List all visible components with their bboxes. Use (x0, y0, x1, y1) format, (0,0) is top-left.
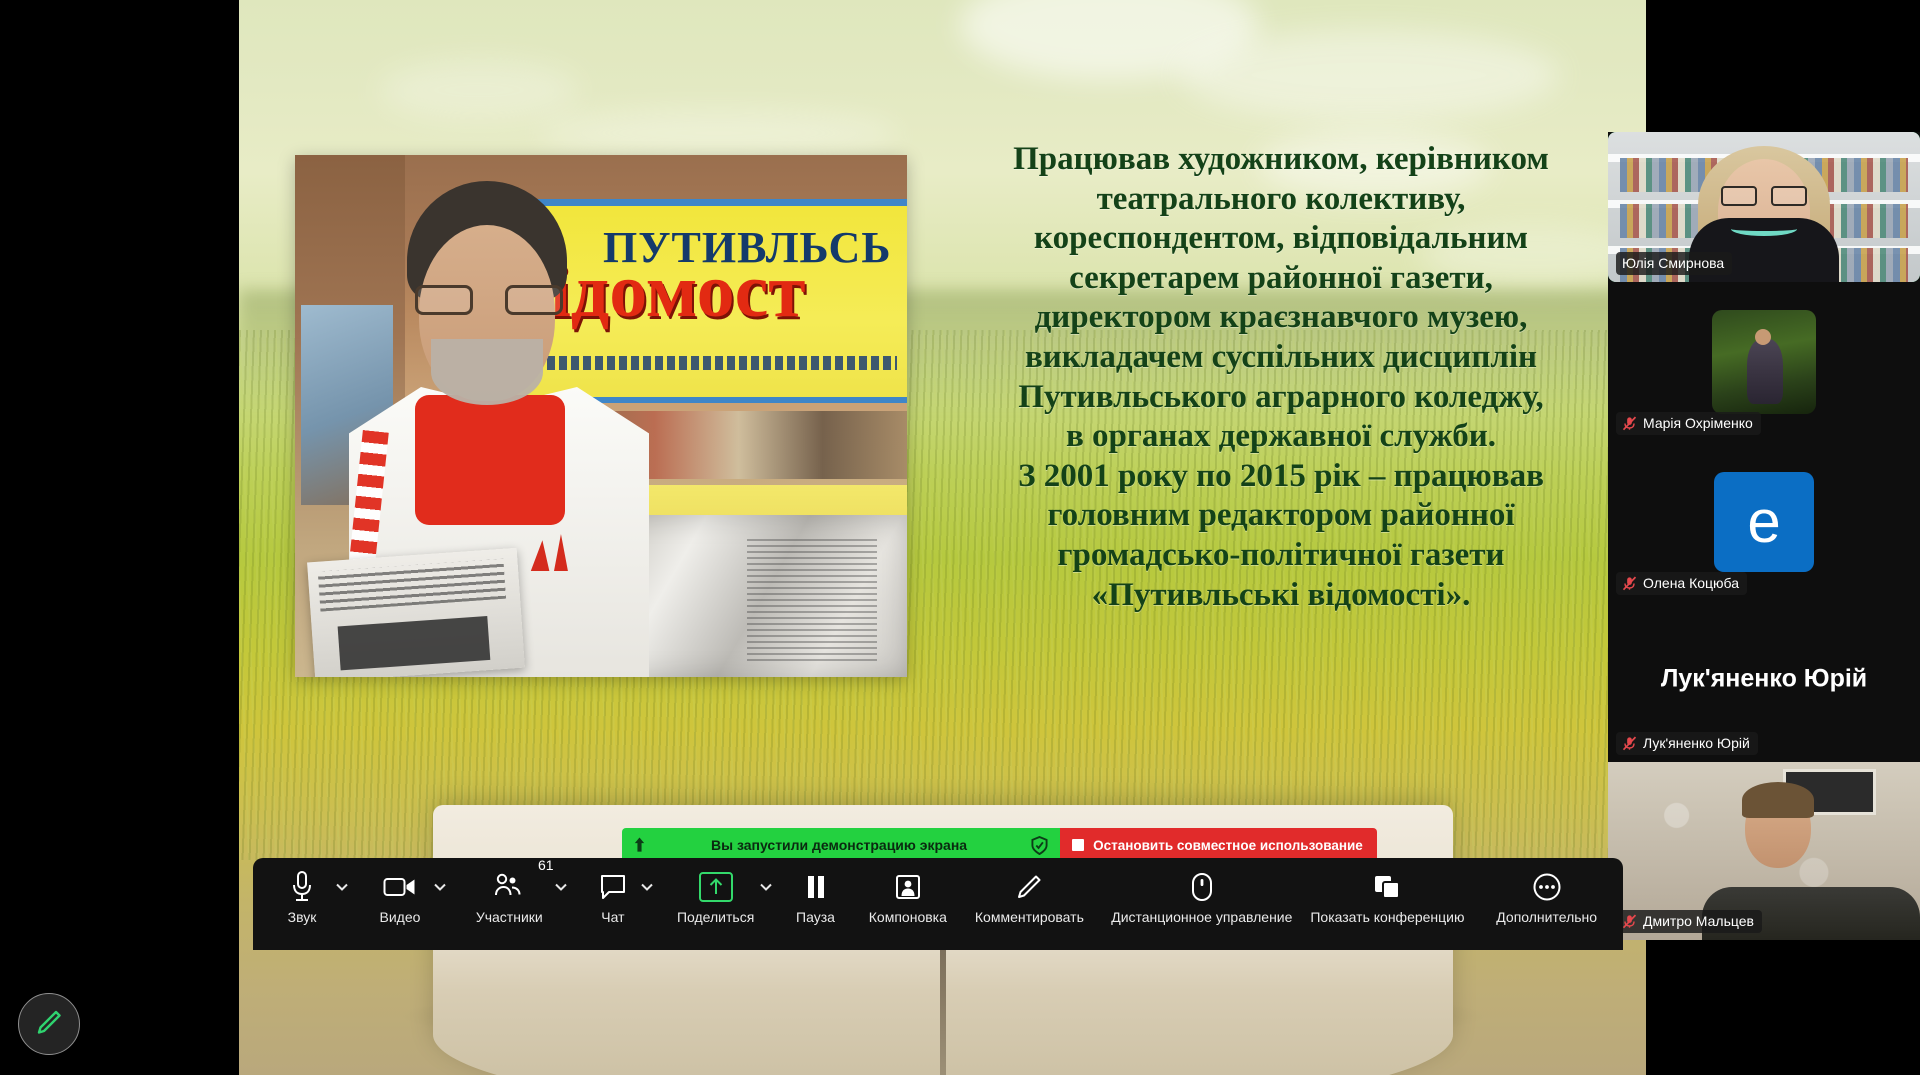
participants-filmstrip: Юлія Смирнова Марія Охріменко (1608, 132, 1920, 940)
participants-count-badge: 61 (538, 857, 554, 873)
chevron-down-icon[interactable] (640, 880, 654, 894)
zoom-toolbar: Звук Видео 61 (253, 858, 1623, 950)
slide-line: викладачем суспільних дисциплін (929, 338, 1633, 378)
shield-icon[interactable] (1031, 836, 1048, 855)
camera-icon (383, 869, 417, 905)
person-shirt (415, 395, 565, 525)
participant-name-badge: Юлія Смирнова (1616, 252, 1732, 275)
share-arrow-icon (632, 836, 647, 854)
slide-line: секретарем районної газети, (929, 259, 1633, 299)
cloud-decoration (539, 110, 899, 156)
slide-photograph: ПУТИВЛЬСЬ Відомост (295, 155, 907, 677)
toolbar-button-show-meeting[interactable]: Показать конференцию (1305, 858, 1471, 950)
participant-name: Дмитро Мальцев (1643, 913, 1754, 929)
toolbar-label-layout: Компоновка (869, 909, 947, 925)
slide-line: «Путивльські відомості». (929, 576, 1633, 616)
annotation-toggle-button[interactable] (18, 993, 80, 1055)
participant-name: Марія Охріменко (1643, 415, 1753, 431)
toolbar-label-participants: Участники (476, 909, 543, 925)
toolbar-label-more: Дополнительно (1496, 909, 1597, 925)
toolbar-button-pause[interactable]: Пауза (775, 858, 856, 950)
toolbar-button-video[interactable]: Видео (351, 858, 449, 950)
ellipsis-icon (1532, 869, 1562, 905)
layout-icon (894, 869, 922, 905)
stop-share-button[interactable]: Остановить совместное использование (1060, 828, 1377, 862)
slide-line: головним редактором районної (929, 496, 1633, 536)
slide-line: театрального колективу, (929, 180, 1633, 220)
slide-line: Працював художником, керівником (929, 140, 1633, 180)
toolbar-label-pause: Пауза (796, 909, 835, 925)
toolbar-button-participants[interactable]: 61 Участники (449, 858, 570, 950)
pencil-icon (34, 1007, 64, 1042)
toolbar-button-more[interactable]: Дополнительно (1470, 858, 1623, 950)
participant-name-badge: Лук'яненко Юрій (1616, 732, 1758, 755)
toolbar-label-audio: Звук (288, 909, 317, 925)
slide-line: З 2001 року по 2015 рік – працював (929, 457, 1633, 497)
cloud-decoration (379, 60, 579, 120)
participant-tile[interactable]: Дмитро Мальцев (1608, 762, 1920, 940)
participant-name-badge: Олена Коцюба (1616, 572, 1747, 595)
participants-icon (494, 869, 524, 905)
cloud-decoration (1179, 30, 1559, 120)
toolbar-button-remote-control[interactable]: Дистанционное управление (1099, 858, 1304, 950)
muted-microphone-icon (1622, 416, 1637, 431)
toolbar-label-remote-control: Дистанционное управление (1111, 909, 1292, 925)
toolbar-button-share[interactable]: Поделиться (656, 858, 775, 950)
pause-icon (804, 869, 828, 905)
held-newspaper (307, 548, 525, 677)
chevron-down-icon[interactable] (335, 880, 349, 894)
sharing-status: Вы запустили демонстрацию экрана (622, 828, 1060, 862)
person-glasses (415, 285, 563, 315)
participant-name-badge: Марія Охріменко (1616, 412, 1761, 435)
chevron-down-icon[interactable] (554, 880, 568, 894)
muted-microphone-icon (1622, 914, 1637, 929)
chat-bubble-icon (599, 869, 627, 905)
chevron-down-icon[interactable] (759, 880, 773, 894)
toolbar-button-chat[interactable]: Чат (570, 858, 657, 950)
participant-avatar-photo (1712, 310, 1816, 414)
person-beard (431, 339, 543, 405)
share-screen-icon (699, 869, 733, 905)
stop-square-icon (1072, 839, 1084, 851)
toolbar-button-audio[interactable]: Звук (253, 858, 351, 950)
slide-line: директором краєзнавчого музею, (929, 298, 1633, 338)
participant-tile[interactable]: Марія Охріменко (1608, 282, 1920, 442)
slide-line: кореспондентом, відповідальним (929, 219, 1633, 259)
muted-microphone-icon (1622, 576, 1637, 591)
participant-tile[interactable]: Юлія Смирнова (1608, 132, 1920, 282)
participant-name: Юлія Смирнова (1622, 255, 1724, 271)
toolbar-label-video: Видео (380, 909, 421, 925)
toolbar-label-show-meeting: Показать конференцию (1310, 909, 1464, 925)
participant-tile[interactable]: Лук'яненко Юрій Лук'яненко Юрій (1608, 602, 1920, 762)
slide-line: громадсько-політичної газети (929, 536, 1633, 576)
slide-body-text: Працював художником, керівником театраль… (929, 140, 1633, 615)
toolbar-label-chat: Чат (601, 909, 624, 925)
zoom-meeting-window: ПУТИВЛЬСЬ Відомост Працював художником, (0, 0, 1920, 1075)
sharing-status-label: Вы запустили демонстрацию экрана (657, 837, 1021, 853)
stop-share-label: Остановить совместное использование (1093, 838, 1363, 853)
screen-share-banner: Вы запустили демонстрацию экрана Останов… (622, 828, 1377, 862)
muted-microphone-icon (1622, 736, 1637, 751)
participant-display-name: Лук'яненко Юрій (1608, 665, 1920, 694)
toolbar-button-layout[interactable]: Компоновка (856, 858, 960, 950)
participant-name-badge: Дмитро Мальцев (1616, 910, 1762, 933)
toolbar-label-share: Поделиться (677, 909, 754, 925)
mouse-icon (1191, 869, 1213, 905)
toolbar-button-annotate[interactable]: Комментировать (960, 858, 1099, 950)
avatar-letter: e (1747, 492, 1780, 552)
participant-tile[interactable]: e Олена Коцюба (1608, 442, 1920, 602)
slide-line: в органах державної служби. (929, 417, 1633, 457)
chevron-down-icon[interactable] (433, 880, 447, 894)
participant-name: Олена Коцюба (1643, 575, 1739, 591)
toolbar-label-annotate: Комментировать (975, 909, 1084, 925)
windows-icon (1373, 869, 1401, 905)
participant-name: Лук'яненко Юрій (1643, 735, 1750, 751)
microphone-icon (289, 869, 315, 905)
slide-line: Путивльського аграрного коледжу, (929, 378, 1633, 418)
participant-avatar-initial: e (1714, 472, 1814, 572)
pencil-icon (1015, 869, 1043, 905)
